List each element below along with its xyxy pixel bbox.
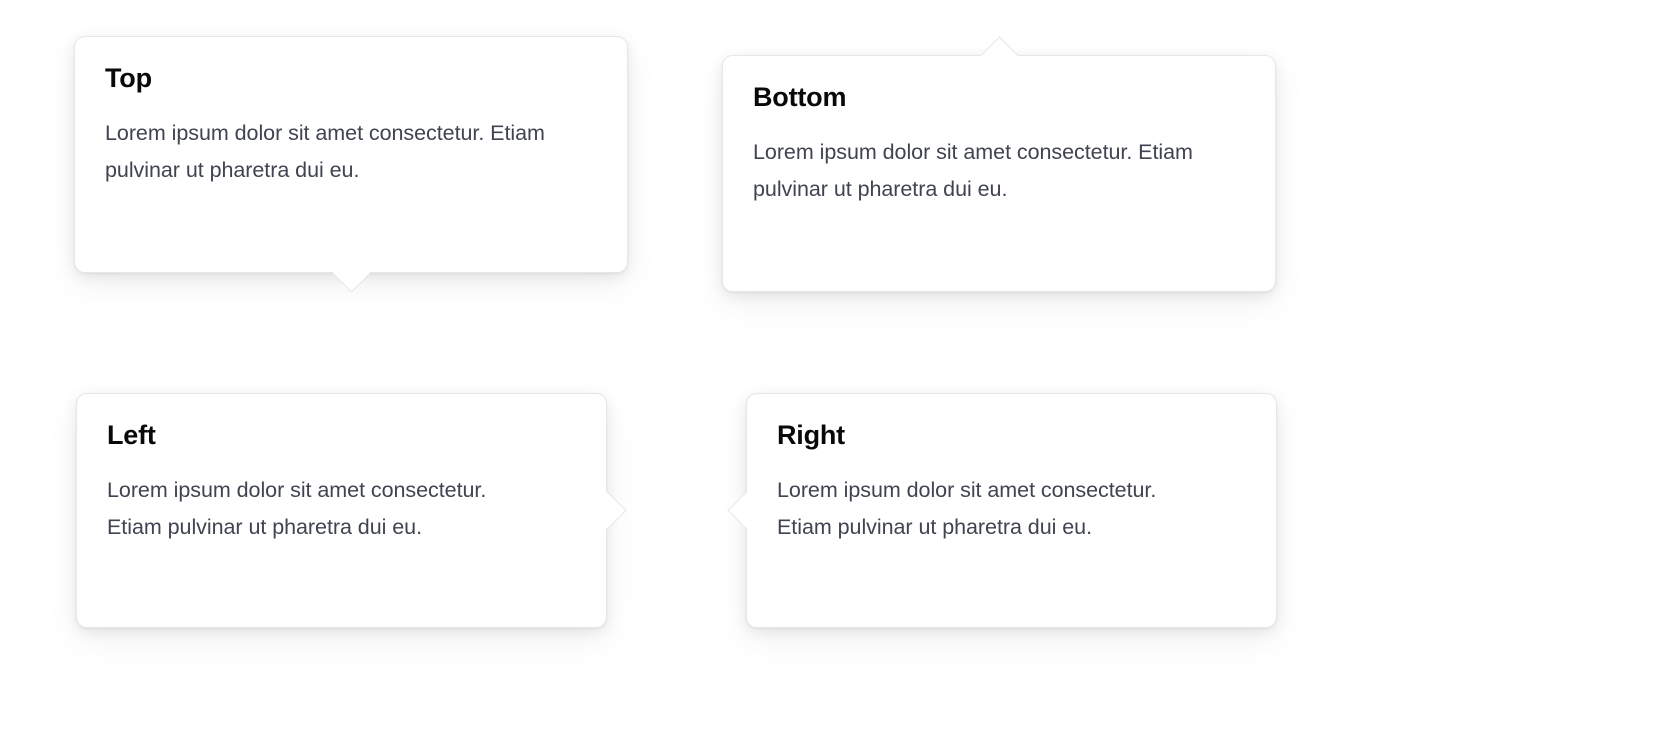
- popover-right-content: Right Lorem ipsum dolor sit amet consect…: [747, 394, 1276, 576]
- popover-arrow-seam-mask: [984, 55, 1014, 58]
- popover-top[interactable]: Top Lorem ipsum dolor sit amet consectet…: [74, 36, 628, 273]
- popover-left-body: Lorem ipsum dolor sit amet consectetur. …: [107, 472, 507, 546]
- popover-left-title: Left: [107, 420, 576, 450]
- popover-arrow-down-icon: [332, 254, 370, 292]
- popover-bottom-body: Lorem ipsum dolor sit amet consectetur. …: [753, 134, 1245, 208]
- popover-left[interactable]: Left Lorem ipsum dolor sit amet consecte…: [76, 393, 607, 628]
- popover-right[interactable]: Right Lorem ipsum dolor sit amet consect…: [746, 393, 1277, 628]
- popover-top-title: Top: [105, 63, 597, 93]
- popover-top-body: Lorem ipsum dolor sit amet consectetur. …: [105, 115, 597, 189]
- popover-right-body: Lorem ipsum dolor sit amet consectetur. …: [777, 472, 1177, 546]
- popover-arrow-seam-mask: [336, 270, 366, 273]
- popover-bottom-content: Bottom Lorem ipsum dolor sit amet consec…: [723, 56, 1275, 238]
- popover-showcase: Top Lorem ipsum dolor sit amet consectet…: [0, 0, 1672, 740]
- popover-right-title: Right: [777, 420, 1246, 450]
- popover-bottom-title: Bottom: [753, 82, 1245, 112]
- popover-arrow-seam-mask: [604, 496, 607, 526]
- popover-top-content: Top Lorem ipsum dolor sit amet consectet…: [75, 37, 627, 219]
- popover-bottom[interactable]: Bottom Lorem ipsum dolor sit amet consec…: [722, 55, 1276, 292]
- popover-arrow-seam-mask: [746, 496, 749, 526]
- popover-left-content: Left Lorem ipsum dolor sit amet consecte…: [77, 394, 606, 576]
